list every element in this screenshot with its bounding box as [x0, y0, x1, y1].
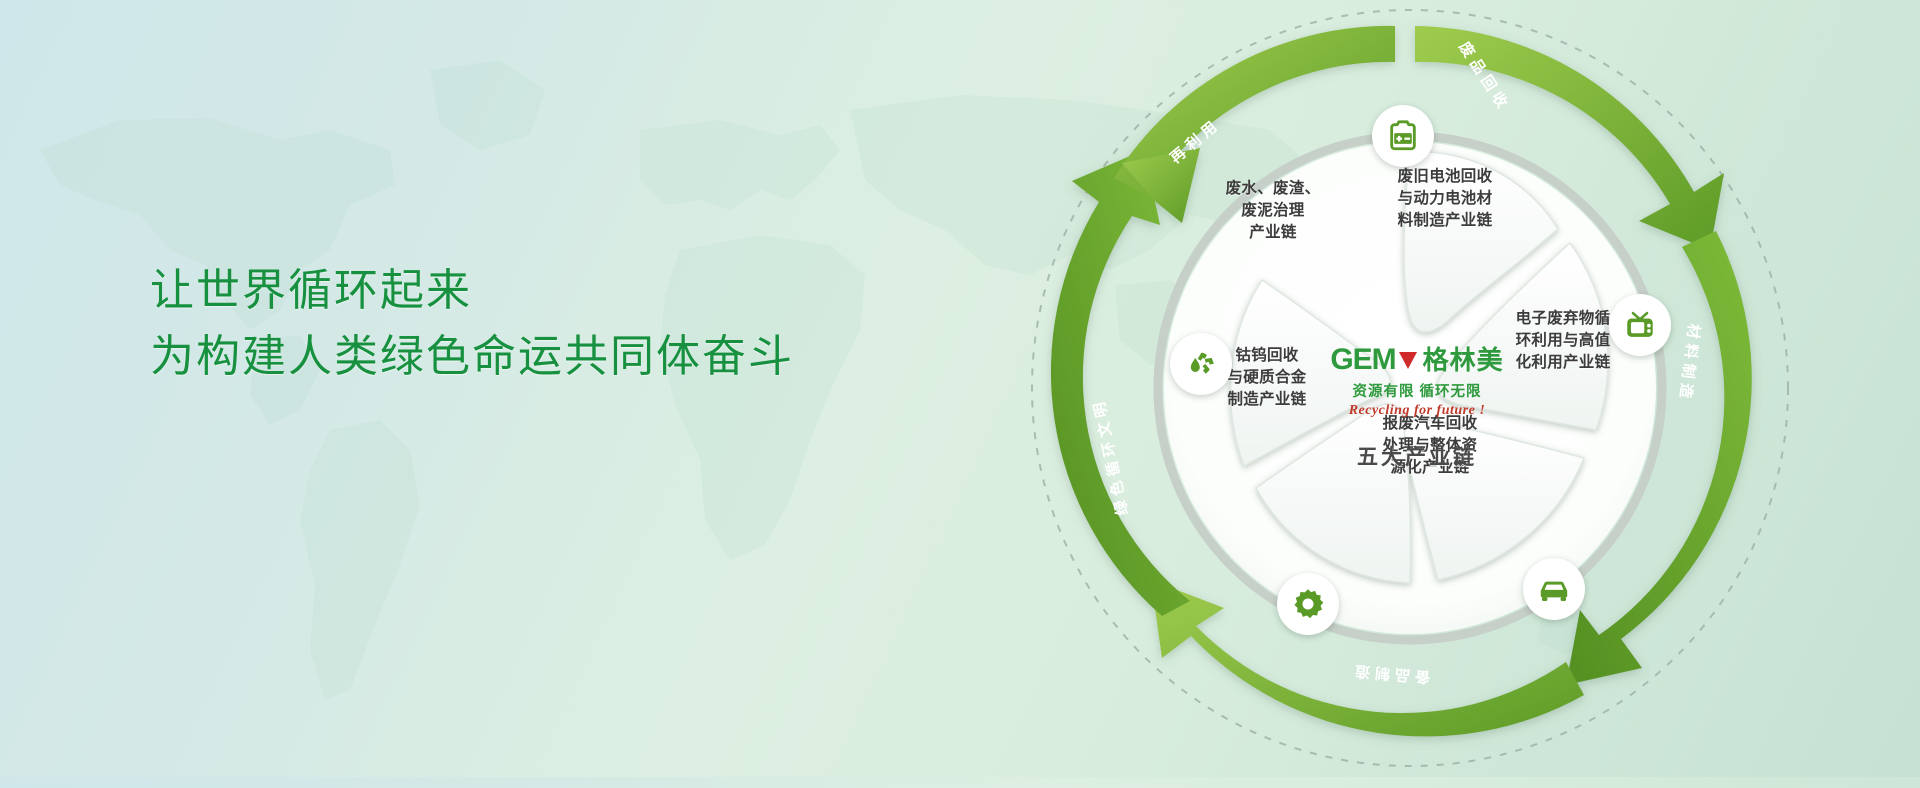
center-title: 五大产业链	[1312, 441, 1522, 471]
logo-tagline-en: Recycling for future !	[1312, 403, 1522, 419]
gem-center-logo: GEM 格林美 资源有限 循环无限 Recycling for future !…	[1312, 345, 1522, 471]
water-recycle-icon	[1183, 346, 1219, 382]
gem-latin-text: GEM	[1330, 345, 1395, 375]
slogan-line-1: 让世界循环起来	[150, 258, 794, 324]
banner-slogan: 让世界循环起来 为构建人类绿色命运共同体奋斗	[150, 258, 794, 390]
gem-chinese-text: 格林美	[1423, 347, 1504, 373]
gear-icon	[1291, 587, 1325, 621]
bubble-gear[interactable]	[1277, 573, 1339, 635]
logo-tagline-cn: 资源有限 循环无限	[1312, 380, 1522, 401]
television-icon	[1623, 308, 1657, 342]
bubble-car[interactable]	[1523, 558, 1585, 620]
bubble-battery[interactable]	[1372, 105, 1434, 167]
slogan-line-2: 为构建人类绿色命运共同体奋斗	[150, 324, 794, 390]
battery-icon	[1386, 119, 1420, 153]
segment-label-waste: 废水、废渣、 废泥治理 产业链	[1198, 178, 1348, 244]
segment-label-battery: 废旧电池回收 与动力电池材 料制造产业链	[1370, 166, 1520, 232]
gem-triangle-icon	[1399, 352, 1417, 369]
logo-wordmark: GEM 格林美	[1312, 345, 1522, 375]
bubble-water-recycle[interactable]	[1170, 333, 1232, 395]
bubble-television[interactable]	[1609, 294, 1671, 356]
car-icon	[1536, 571, 1572, 607]
